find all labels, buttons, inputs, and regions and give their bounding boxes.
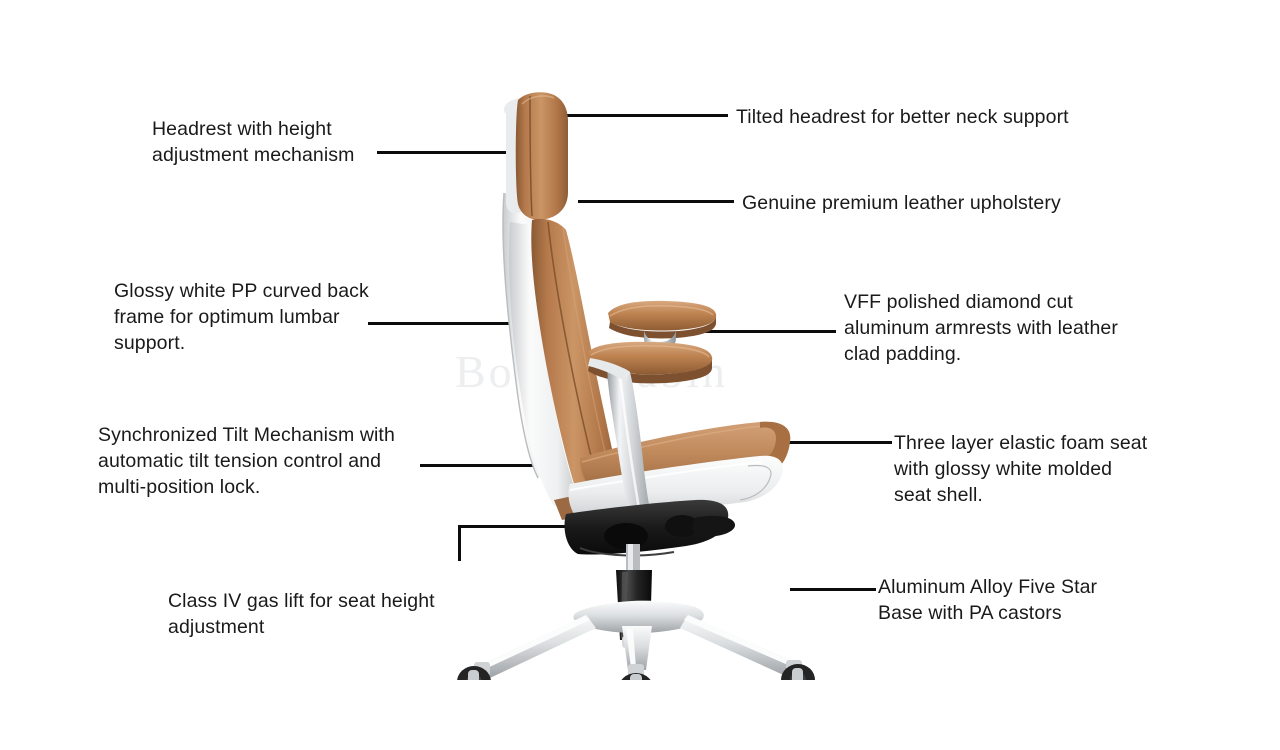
castor [618,664,654,680]
annotation-aluminium-armrests: VFF polished diamond cut aluminum armres… [844,289,1164,367]
five-star-base [457,601,815,680]
annotation-synchronized-tilt: Synchronized Tilt Mechanism with automat… [98,422,428,500]
castor [781,660,815,680]
diagram-canvas: Boss's Cabin [0,0,1280,750]
castor [457,662,491,680]
headrest [504,92,568,219]
annotation-pp-back-frame: Glossy white PP curved back frame for op… [114,278,386,356]
annotation-gas-lift: Class IV gas lift for seat height adjust… [168,588,468,640]
annotation-foam-seat: Three layer elastic foam seat with gloss… [894,430,1214,508]
office-chair-illustration [430,70,850,680]
annotation-headrest-height: Headrest with height adjustment mechanis… [152,116,414,168]
annotation-five-star-base: Aluminum Alloy Five Star Base with PA ca… [878,574,1178,626]
